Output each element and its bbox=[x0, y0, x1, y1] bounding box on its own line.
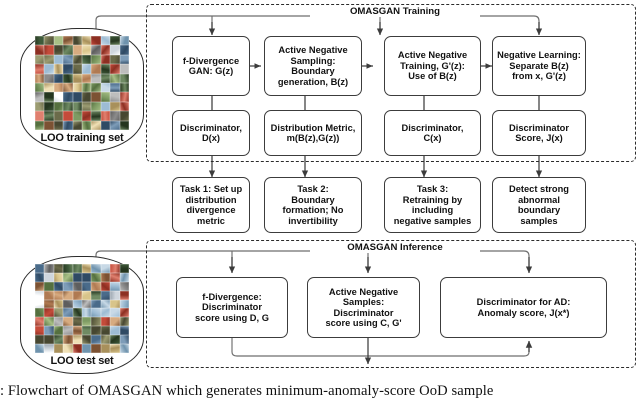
group-title-inference: OMASGAN Inference bbox=[310, 242, 480, 253]
box-inference-active-negative-samples-line4: score using C, G' bbox=[325, 318, 401, 328]
box-inference-discriminator-ad-line2: Anomaly score, J(x*) bbox=[478, 308, 570, 318]
box-inference-f-divergence[interactable]: f-Divergence: Discriminator score using … bbox=[176, 277, 288, 338]
box-task-3[interactable]: Task 3: Retraining by including negative… bbox=[384, 177, 481, 233]
box-inference-active-negative-samples-line2: Samples: bbox=[343, 297, 384, 307]
box-task-2-line1: Task 2: bbox=[297, 184, 328, 194]
box-active-negative-training-line3: Use of B(z) bbox=[408, 71, 457, 81]
box-active-negative-training-line2: Training, G'(z): bbox=[400, 61, 465, 71]
box-detect-strong-abnormal-line2: abnormal boundary bbox=[518, 195, 560, 216]
dataset-loo-training-set-label: LOO training set bbox=[41, 132, 124, 144]
box-task-1-line4: metric bbox=[197, 216, 225, 226]
box-discriminator-score[interactable]: Discriminator Score, J(x) bbox=[492, 110, 586, 156]
box-distribution-metric-line1: Distribution Metric, bbox=[271, 123, 356, 133]
box-task-3-line1: Task 3: bbox=[417, 184, 448, 194]
group-title-training: OMASGAN Training bbox=[310, 6, 480, 17]
box-task-2-line2: Boundary bbox=[291, 195, 334, 205]
box-active-negative-sampling-line2: Sampling: bbox=[291, 56, 336, 66]
box-task-1[interactable]: Task 1: Set up distribution divergence m… bbox=[172, 177, 250, 233]
box-task-3-line3: including bbox=[412, 205, 453, 215]
box-inference-active-negative-samples-line3: Discriminator bbox=[334, 308, 394, 318]
figure-caption: : Flowchart of OMASGAN which generates m… bbox=[0, 383, 640, 400]
box-task-2[interactable]: Task 2: Boundary formation; No invertibi… bbox=[264, 177, 362, 233]
box-active-negative-sampling-line3: Boundary bbox=[291, 66, 334, 76]
box-inference-f-divergence-line2: Discriminator bbox=[202, 302, 262, 312]
box-discriminator-c-line2: C(x) bbox=[423, 133, 441, 143]
dataset-loo-test-set[interactable]: LOO test set bbox=[20, 256, 144, 374]
box-f-divergence-gan-line2: GAN: G(z) bbox=[189, 66, 233, 76]
box-f-divergence-gan-line1: f-Divergence bbox=[183, 56, 239, 66]
dataset-loo-training-set[interactable]: LOO training set bbox=[20, 28, 144, 152]
box-negative-learning-line3: from x, G'(z) bbox=[512, 71, 566, 81]
box-inference-f-divergence-line1: f-Divergence: bbox=[202, 292, 261, 302]
box-discriminator-d-line1: Discriminator, bbox=[180, 123, 242, 133]
box-task-3-line4: negative samples bbox=[394, 216, 472, 226]
box-inference-active-negative-samples[interactable]: Active Negative Samples: Discriminator s… bbox=[307, 277, 420, 338]
box-discriminator-d-line2: D(x) bbox=[202, 133, 220, 143]
box-task-1-line3: divergence bbox=[186, 205, 235, 215]
box-f-divergence-gan[interactable]: f-Divergence GAN: G(z) bbox=[172, 36, 250, 96]
box-distribution-metric-line2: m(B(z),G(z)) bbox=[287, 133, 340, 143]
flowchart-canvas: OMASGAN Training OMASGAN Inference LOO t… bbox=[0, 0, 640, 406]
box-discriminator-c[interactable]: Discriminator, C(x) bbox=[384, 110, 481, 156]
box-detect-strong-abnormal-line3: samples bbox=[520, 216, 557, 226]
box-task-3-line2: Retraining by bbox=[403, 195, 462, 205]
box-discriminator-c-line1: Discriminator, bbox=[401, 123, 463, 133]
box-active-negative-sampling-line1: Active Negative bbox=[278, 45, 347, 55]
box-task-2-line3: formation; No bbox=[283, 205, 344, 215]
image-grid-icon bbox=[35, 264, 129, 353]
box-discriminator-score-line2: Score, J(x) bbox=[515, 133, 563, 143]
box-negative-learning-line1: Negative Learning: bbox=[497, 50, 581, 60]
box-discriminator-score-line1: Discriminator bbox=[509, 123, 569, 133]
box-inference-discriminator-ad[interactable]: Discriminator for AD: Anomaly score, J(x… bbox=[440, 277, 607, 338]
box-discriminator-d[interactable]: Discriminator, D(x) bbox=[172, 110, 250, 156]
box-negative-learning[interactable]: Negative Learning: Separate B(z) from x,… bbox=[492, 36, 586, 96]
box-inference-active-negative-samples-line1: Active Negative bbox=[329, 287, 398, 297]
box-detect-strong-abnormal-line1: Detect strong bbox=[509, 184, 569, 194]
image-grid-icon bbox=[35, 36, 129, 130]
box-task-2-line4: invertibility bbox=[288, 216, 338, 226]
box-distribution-metric[interactable]: Distribution Metric, m(B(z),G(z)) bbox=[264, 110, 362, 156]
box-task-1-line1: Task 1: Set up bbox=[180, 184, 242, 194]
box-active-negative-training-line1: Active Negative bbox=[398, 50, 467, 60]
box-negative-learning-line2: Separate B(z) bbox=[509, 61, 568, 71]
box-inference-discriminator-ad-line1: Discriminator for AD: bbox=[477, 297, 571, 307]
box-detect-strong-abnormal[interactable]: Detect strong abnormal boundary samples bbox=[492, 177, 586, 233]
box-task-1-line2: distribution bbox=[185, 195, 236, 205]
box-active-negative-sampling-line4: generation, B(z) bbox=[278, 77, 348, 87]
dataset-loo-test-set-label: LOO test set bbox=[50, 355, 113, 367]
box-inference-f-divergence-line3: score using D, G bbox=[195, 313, 269, 323]
box-active-negative-training[interactable]: Active Negative Training, G'(z): Use of … bbox=[384, 36, 481, 96]
box-active-negative-sampling[interactable]: Active Negative Sampling: Boundary gener… bbox=[264, 36, 362, 96]
